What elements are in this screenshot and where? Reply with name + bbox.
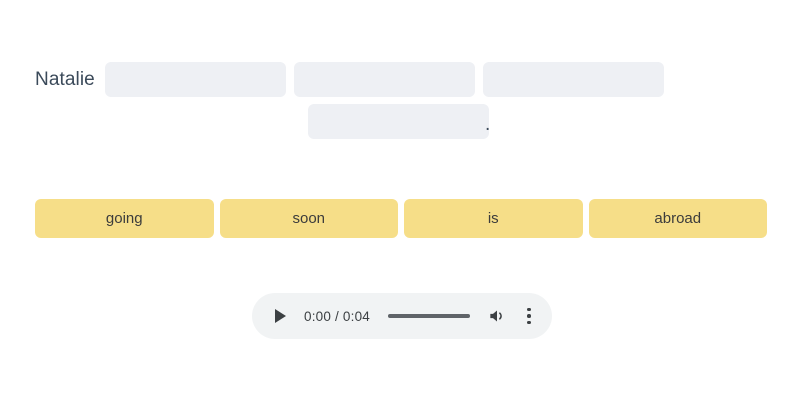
word-order-exercise: Natalie . going soon is abroad 0:00 / 0:… xyxy=(0,0,800,400)
blank-slot-4[interactable] xyxy=(308,104,489,139)
play-triangle-icon xyxy=(275,309,286,323)
blank-slot-2[interactable] xyxy=(294,62,475,97)
word-tile[interactable]: abroad xyxy=(589,199,768,238)
volume-speaker-icon xyxy=(487,306,507,326)
word-bank: going soon is abroad xyxy=(35,199,767,238)
blank-slot-3[interactable] xyxy=(483,62,664,97)
terminal-punctuation: . xyxy=(485,114,490,139)
more-vertical-icon xyxy=(527,308,531,312)
word-tile[interactable]: soon xyxy=(220,199,399,238)
sentence-builder: Natalie . xyxy=(35,62,767,139)
audio-progress-track xyxy=(388,314,470,318)
play-button[interactable] xyxy=(270,306,290,326)
word-tile[interactable]: is xyxy=(404,199,583,238)
more-vertical-icon xyxy=(527,321,531,325)
more-options-button[interactable] xyxy=(520,305,538,327)
word-tile[interactable]: going xyxy=(35,199,214,238)
blank-slot-1[interactable] xyxy=(105,62,286,97)
audio-progress-slider[interactable] xyxy=(388,308,470,324)
sentence-row-2: . xyxy=(35,104,767,139)
prompt-word: Natalie xyxy=(35,70,97,89)
sentence-row-1: Natalie xyxy=(35,62,767,97)
more-vertical-icon xyxy=(527,314,531,318)
audio-player[interactable]: 0:00 / 0:04 xyxy=(252,293,552,339)
audio-time-display: 0:00 / 0:04 xyxy=(304,309,370,324)
volume-button[interactable] xyxy=(486,305,508,327)
